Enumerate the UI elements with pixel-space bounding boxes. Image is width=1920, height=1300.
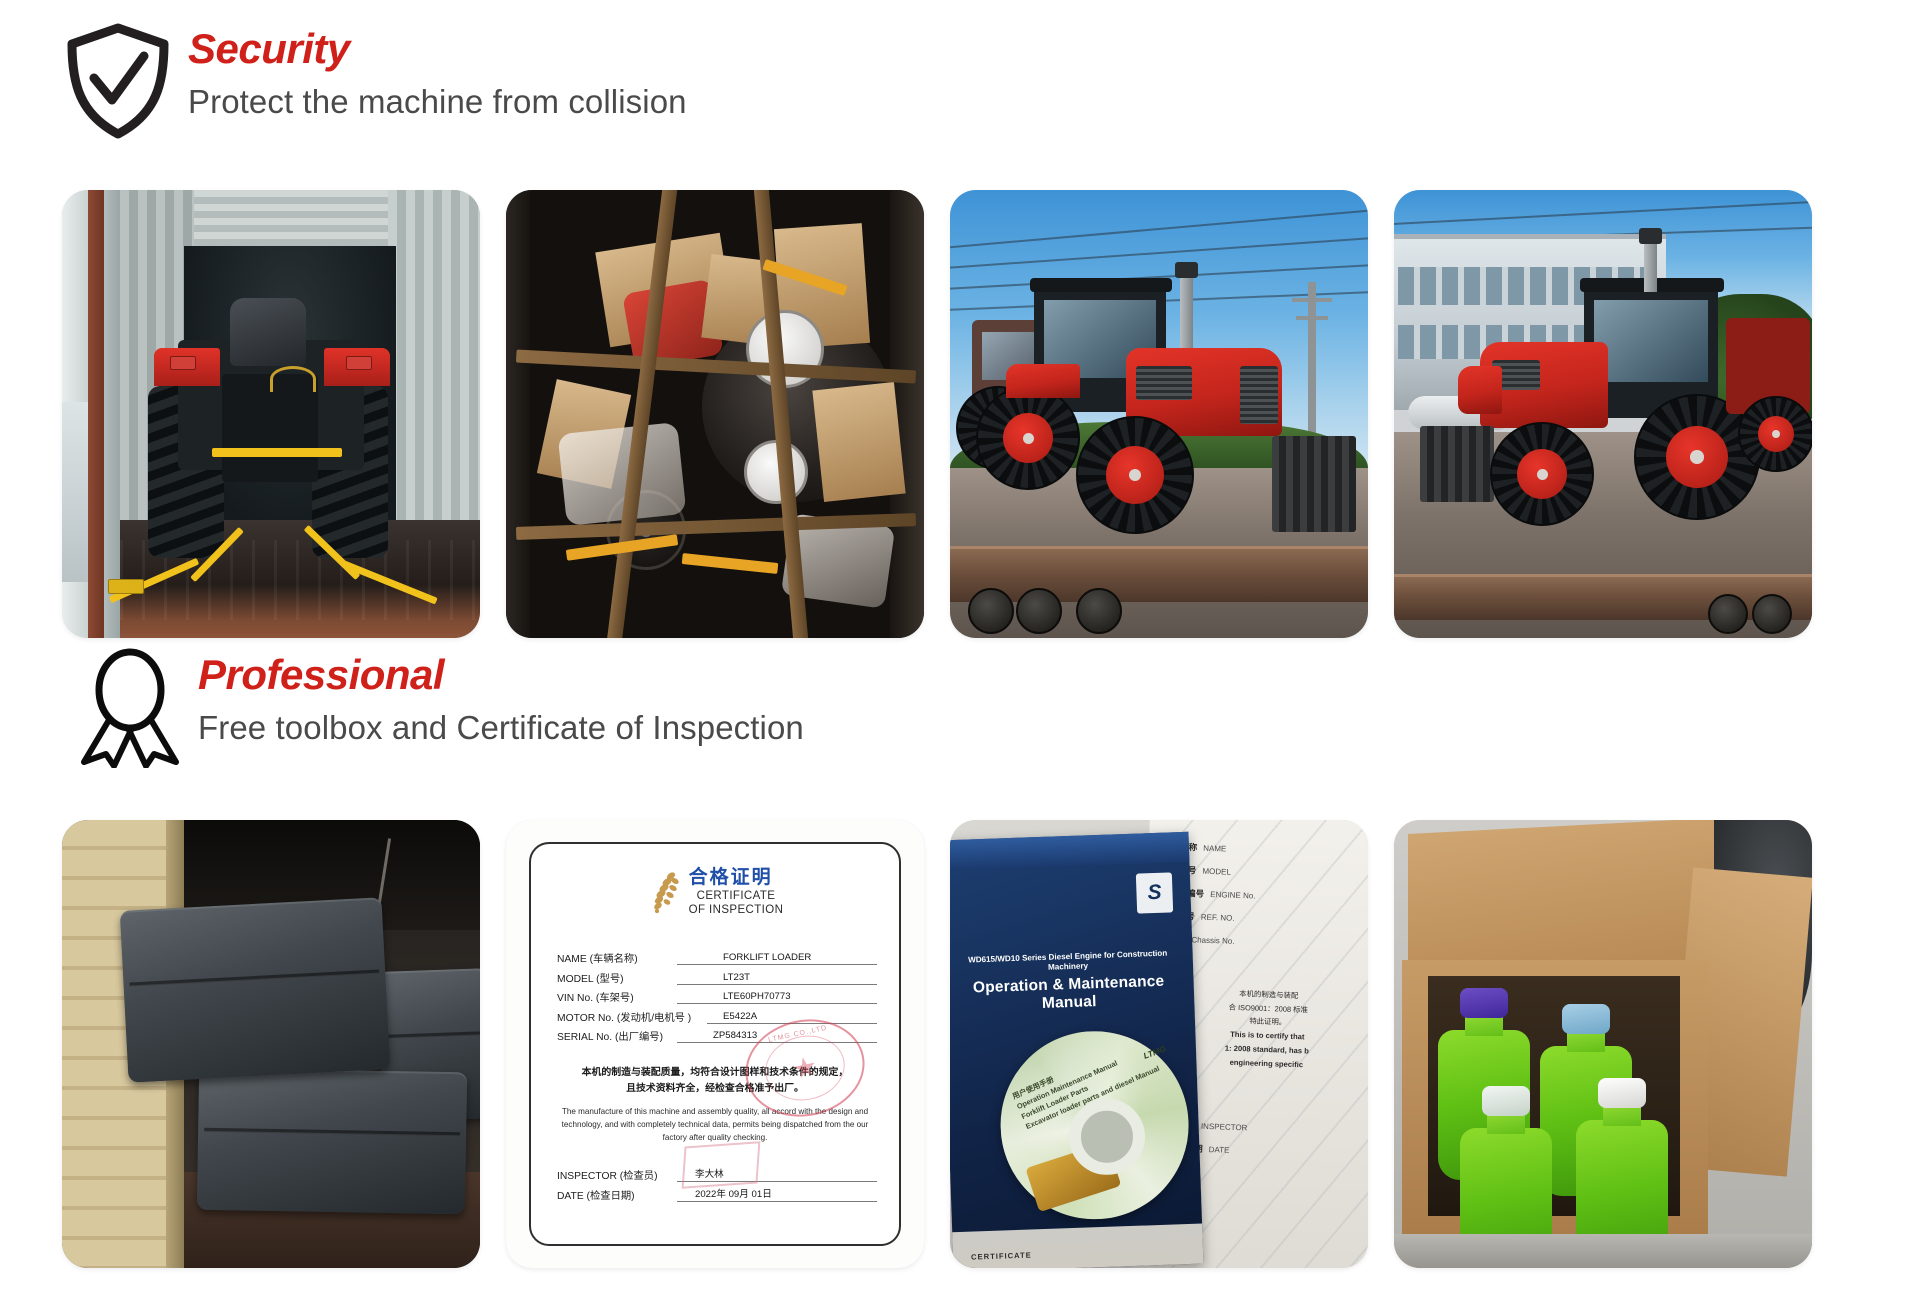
certificate-field-row: VIN No. (车架号) LTE60PH70773 (557, 985, 877, 1005)
promo-page: Security Protect the machine from collis… (0, 0, 1920, 1300)
floor-foreground (1394, 1234, 1812, 1268)
certificate-header: 合格证明 CERTIFICATE OF INSPECTION (531, 844, 899, 918)
toolbox-1 (120, 897, 391, 1082)
section-subtitle-professional: Free toolbox and Certificate of Inspecti… (198, 710, 804, 746)
photo-tractor-at-factory-yard (1394, 190, 1812, 638)
cd-artwork-loader (1025, 1142, 1121, 1212)
cd-label-text: 用户使用手册 Operation Maintenance Manual Fork… (1010, 1031, 1165, 1133)
certificate-field-row: NAME (车辆名称) FORKLIFT LOADER (557, 946, 877, 966)
wheat-wreath-icon (647, 871, 681, 915)
photo-black-toolboxes (62, 820, 480, 1268)
carton-back-flap (1408, 820, 1714, 982)
award-ribbon-icon (76, 648, 184, 773)
field-label: MOTOR No. (发动机/电机号 ) (557, 1009, 707, 1024)
section-header-security: Security Protect the machine from collis… (62, 22, 687, 145)
shield-check-icon (62, 22, 174, 145)
side-body-en-1: This is to certify that (1230, 1030, 1305, 1042)
tractor-rear-fender (1006, 364, 1080, 398)
certificate-field-list: NAME (车辆名称) FORKLIFT LOADER MODEL (型号) L… (531, 946, 899, 1044)
section-title-security: Security (188, 28, 687, 70)
photo-certificate: 合格证明 CERTIFICATE OF INSPECTION NAME (车辆名… (506, 820, 924, 1268)
bottle-cap-purple (1460, 988, 1508, 1018)
bottle-cap-blue (1562, 1004, 1610, 1034)
footer-value: 2022年 09月 01日 (695, 1186, 772, 1200)
certificate-title-cn: 合格证明 (689, 868, 784, 889)
lashing-strap-crossbar (212, 448, 342, 457)
certificate-body-cn-1: 本机的制造与装配质量，均符合设计图样和技术条件的规定， (557, 1065, 873, 1081)
section-subtitle-security: Protect the machine from collision (188, 84, 687, 120)
container-door-frame (88, 190, 104, 638)
certificate-title-en-1: CERTIFICATE (689, 889, 784, 903)
field-label: VIN No. (车架号) (557, 989, 677, 1004)
field-label: NAME (车辆名称) (557, 950, 677, 965)
photo-tractor-on-flatbed-truck (950, 190, 1368, 638)
field-label: MODEL (型号) (557, 970, 677, 985)
certificate-field-row: MOTOR No. (发动机/电机号 ) E5422A (557, 1004, 877, 1024)
side-body-en-3: engineering specific (1229, 1058, 1303, 1070)
bottle-cap-grey (1482, 1086, 1530, 1116)
photo-spare-parts-in-container (506, 190, 924, 638)
certificate-footer-row: INSPECTOR (检查员) 李大林 (557, 1163, 877, 1183)
cardboard-packing-5 (812, 382, 905, 502)
tractor-tail-light-right (346, 356, 372, 370)
trailer-wheels (950, 586, 1368, 638)
front-counterweights (1420, 426, 1494, 502)
adjacent-tractor-wheel (1738, 396, 1812, 472)
security-photo-row (62, 190, 1812, 638)
tractor-front-wheel (1076, 416, 1194, 534)
certificate-card: 合格证明 CERTIFICATE OF INSPECTION NAME (车辆名… (529, 842, 901, 1246)
certificate-footer: INSPECTOR (检查员) 李大林 DATE (检查日期) 2022年 09… (531, 1163, 899, 1202)
field-value: FORKLIFT LOADER (723, 952, 811, 963)
field-value: ZP584313 (713, 1030, 757, 1041)
tractor-roof (1030, 278, 1172, 292)
row-label-en: MODEL (1202, 867, 1231, 877)
field-value: LT23T (723, 972, 750, 983)
manual-title: Operation & Maintenance Manual (953, 972, 1184, 1016)
sinotruk-logo-icon: S (1136, 872, 1173, 913)
field-value: E5422A (723, 1011, 757, 1022)
side-document-row: 车辆型号 MODEL (1162, 863, 1368, 883)
bottle-cap-white (1598, 1078, 1646, 1108)
row-label-en: Chassis No. (1191, 935, 1234, 945)
manual-cd-disc: LTMG 用户使用手册 Operation Maintenance Manual… (997, 1028, 1191, 1222)
exhaust-stack (1644, 242, 1657, 292)
front-counterweights (1272, 436, 1356, 532)
footer-value: 李大林 (695, 1166, 724, 1180)
certificate-body-en: The manufacture of this machine and asse… (557, 1106, 873, 1145)
tractor-front-grille (1240, 366, 1278, 424)
section-title-professional: Professional (198, 654, 804, 696)
certificate-field-row: MODEL (型号) LT23T (557, 965, 877, 985)
photo-tractor-in-container (62, 190, 480, 638)
tractor-side-louvers (1136, 366, 1192, 400)
footer-label: DATE (检查日期) (557, 1187, 677, 1202)
row-label-en: REF. NO. (1201, 913, 1235, 923)
row-label-en: NAME (1203, 844, 1226, 854)
tractor-tail-light-left (170, 356, 196, 370)
bottom-strip-text: CERTIFICATE (971, 1250, 1032, 1261)
strap-ratchet-buckle (108, 579, 144, 594)
container-wall-left (506, 190, 530, 638)
certificate-footer-row: DATE (检查日期) 2022年 09月 01日 (557, 1182, 877, 1202)
side-body-en-2: 1: 2008 standard, has b (1225, 1044, 1309, 1056)
footer-label: INSPECTOR (检查员) (557, 1167, 677, 1182)
field-value: LTE60PH70773 (723, 991, 791, 1002)
certificate-sheet: 合格证明 CERTIFICATE OF INSPECTION NAME (车辆名… (506, 820, 924, 1268)
trailer-wheels (1394, 586, 1812, 638)
photo-bottles-in-box (1394, 820, 1812, 1268)
tractor-front-nose (1458, 366, 1502, 414)
certificate-body-cn-2: 且技术资料齐全，经检查合格准予出厂。 (557, 1081, 873, 1097)
tractor-covered-seat (230, 298, 306, 366)
exhaust-stack (1180, 276, 1193, 356)
section-header-professional: Professional Free toolbox and Certificat… (76, 648, 804, 773)
side-document-row: 发动机编号 ENGINE No. (1161, 886, 1368, 906)
tractor-cab-glass (1594, 300, 1708, 382)
certificate-field-row: SERIAL No. (出厂编号) ZP584313 (557, 1024, 877, 1044)
footer-label-en: INSPECTOR (1201, 1122, 1248, 1133)
footer-label-en: DATE (1209, 1145, 1230, 1155)
operation-manual-cover: S WD615/WD10 Series Diesel Engine for Co… (950, 832, 1203, 1268)
manual-subtitle: WD615/WD10 Series Diesel Engine for Cons… (955, 948, 1182, 976)
field-label: SERIAL No. (出厂编号) (557, 1028, 677, 1043)
row-label-en: ENGINE No. (1210, 890, 1256, 901)
professional-photo-row: 合格证明 CERTIFICATE OF INSPECTION NAME (车辆名… (62, 820, 1812, 1268)
tractor-rear-wheel (976, 386, 1080, 490)
tractor-hydraulic-hose (270, 366, 316, 392)
manual-bottom-paper-strip: CERTIFICATE (952, 1224, 1203, 1268)
tractor-front-wheel (1490, 422, 1594, 526)
toolbox-2 (197, 1068, 467, 1215)
certificate-title-en-2: OF INSPECTION (689, 903, 784, 917)
certificate-body: 本机的制造与装配质量，均符合设计图样和技术条件的规定， 且技术资料齐全，经检查合… (531, 1065, 899, 1145)
photo-manual-and-cd: 车辆名称 NAME 车辆型号 MODEL 发动机编号 ENGINE No. (950, 820, 1368, 1268)
